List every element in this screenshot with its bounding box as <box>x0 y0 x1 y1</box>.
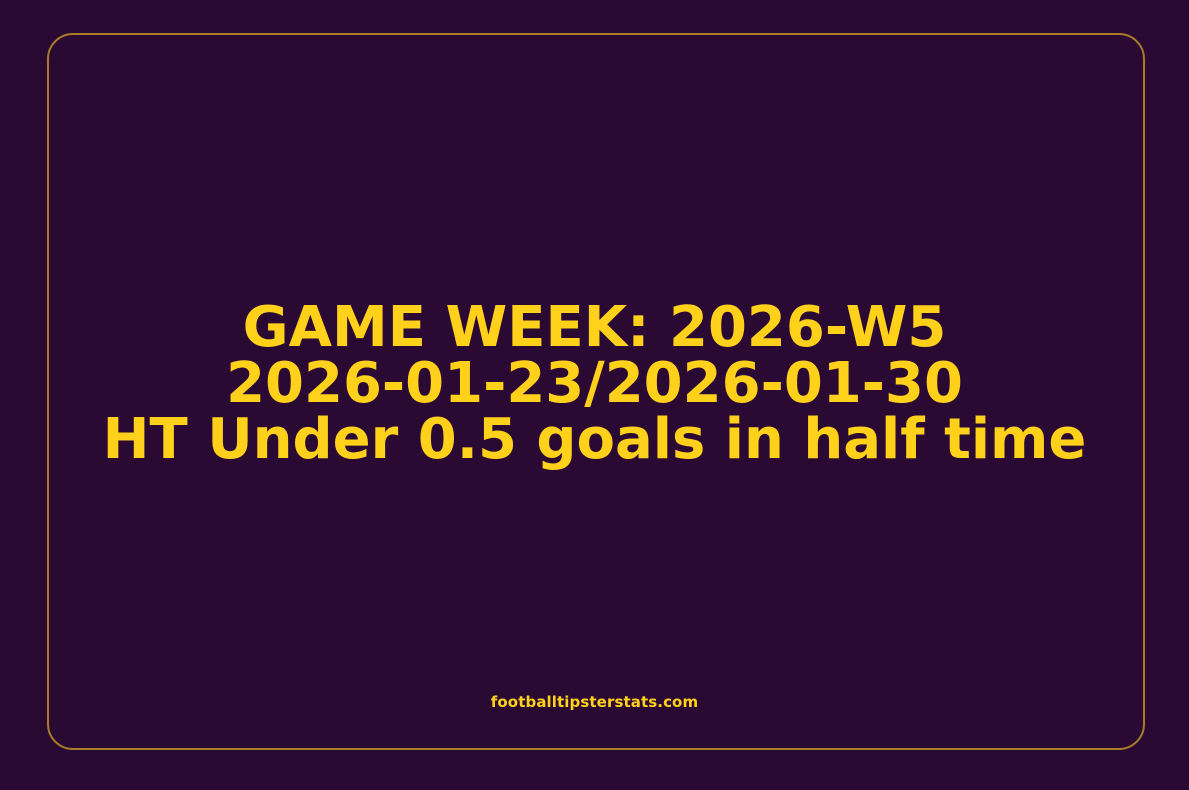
headline-line-market: HT Under 0.5 goals in half time <box>60 412 1129 468</box>
headline-block: GAME WEEK: 2026-W5 2026-01-23/2026-01-30… <box>0 300 1189 468</box>
banner-card: GAME WEEK: 2026-W5 2026-01-23/2026-01-30… <box>0 0 1189 790</box>
site-watermark: footballtipsterstats.com <box>491 693 698 711</box>
headline-line-game-week: GAME WEEK: 2026-W5 <box>60 300 1129 356</box>
footer: footballtipsterstats.com <box>0 692 1189 712</box>
headline-line-date-range: 2026-01-23/2026-01-30 <box>60 356 1129 412</box>
